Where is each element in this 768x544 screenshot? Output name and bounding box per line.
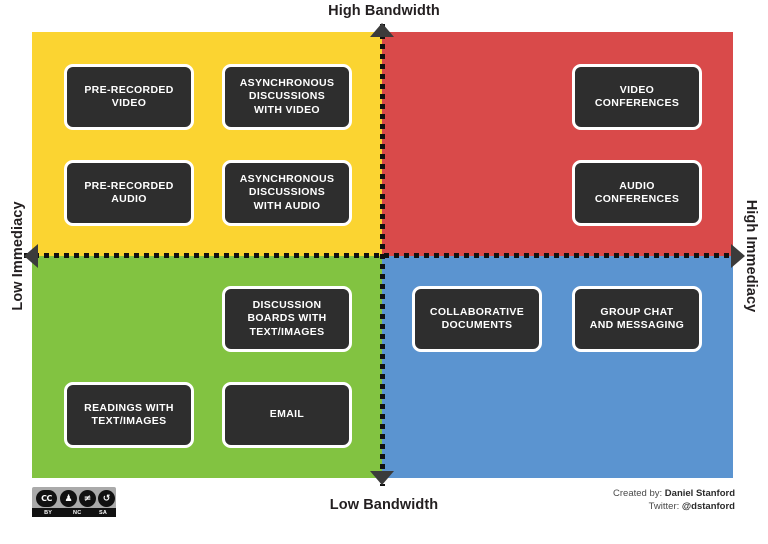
bandwidth-immediacy-matrix: PRE-RECORDED VIDEO ASYNCHRONOUS DISCUSSI… xyxy=(32,32,733,478)
cc-badge-terms: BY NC SA xyxy=(32,508,116,517)
card-discussion-boards-with-text-images[interactable]: DISCUSSION BOARDS WITH TEXT/IMAGES xyxy=(222,286,352,352)
card-line: DOCUMENTS xyxy=(430,319,524,333)
axis-label-right: High Immediacy xyxy=(743,196,759,316)
card-line: ASYNCHRONOUS xyxy=(240,173,335,187)
card-video-conferences[interactable]: VIDEO CONFERENCES xyxy=(572,64,702,130)
attribution-twitter-line: Twitter: @dstanford xyxy=(613,500,735,513)
cc-term-by: BY xyxy=(32,510,64,516)
card-line: EMAIL xyxy=(270,408,304,422)
attribution-creator-name: Daniel Stanford xyxy=(665,488,735,499)
attribution-twitter-label: Twitter: xyxy=(649,501,680,512)
card-line: AND MESSAGING xyxy=(590,319,684,333)
axis-label-top: High Bandwidth xyxy=(0,0,768,22)
card-line: TEXT/IMAGES xyxy=(247,326,326,340)
divider-horizontal xyxy=(24,253,741,258)
card-line: WITH VIDEO xyxy=(240,104,335,118)
cc-term-nc: NC xyxy=(64,510,90,516)
card-line: AUDIO xyxy=(84,193,173,207)
card-pre-recorded-audio[interactable]: PRE-RECORDED AUDIO xyxy=(64,160,194,226)
sa-icon: ↺ xyxy=(98,490,115,507)
card-line: DISCUSSIONS xyxy=(240,90,335,104)
card-line: VIDEO xyxy=(595,84,679,98)
card-line: PRE-RECORDED xyxy=(84,180,173,194)
attribution-creator-line: Created by: Daniel Stanford xyxy=(613,487,735,500)
card-line: READINGS WITH xyxy=(84,402,174,416)
card-line: PRE-RECORDED xyxy=(84,84,173,98)
nc-icon: ≠ xyxy=(79,490,96,507)
arrow-down-icon xyxy=(370,471,394,485)
attribution: Created by: Daniel Stanford Twitter: @ds… xyxy=(613,487,735,513)
card-line: COLLABORATIVE xyxy=(430,306,524,320)
card-line: GROUP CHAT xyxy=(590,306,684,320)
by-icon: ♟ xyxy=(60,490,77,507)
arrow-left-icon xyxy=(24,244,38,268)
card-asynchronous-discussions-with-video[interactable]: ASYNCHRONOUS DISCUSSIONS WITH VIDEO xyxy=(222,64,352,130)
card-audio-conferences[interactable]: AUDIO CONFERENCES xyxy=(572,160,702,226)
cc-term-sa: SA xyxy=(90,510,116,516)
card-line: ASYNCHRONOUS xyxy=(240,77,335,91)
card-line: CONFERENCES xyxy=(595,193,679,207)
card-email[interactable]: EMAIL xyxy=(222,382,352,448)
card-line: DISCUSSIONS xyxy=(240,186,335,200)
arrow-up-icon xyxy=(370,23,394,37)
card-line: TEXT/IMAGES xyxy=(84,415,174,429)
card-line: VIDEO xyxy=(84,97,173,111)
cc-icon: CC xyxy=(36,490,57,507)
card-collaborative-documents[interactable]: COLLABORATIVE DOCUMENTS xyxy=(412,286,542,352)
card-line: BOARDS WITH xyxy=(247,312,326,326)
attribution-twitter-handle[interactable]: @dstanford xyxy=(682,501,735,512)
card-line: DISCUSSION xyxy=(247,299,326,313)
card-line: AUDIO xyxy=(595,180,679,194)
card-asynchronous-discussions-with-audio[interactable]: ASYNCHRONOUS DISCUSSIONS WITH AUDIO xyxy=(222,160,352,226)
arrow-right-icon xyxy=(731,244,745,268)
card-line: WITH AUDIO xyxy=(240,200,335,214)
card-line: CONFERENCES xyxy=(595,97,679,111)
creative-commons-badge[interactable]: CC ♟ ≠ ↺ BY NC SA xyxy=(32,487,116,517)
card-group-chat-and-messaging[interactable]: GROUP CHAT AND MESSAGING xyxy=(572,286,702,352)
card-pre-recorded-video[interactable]: PRE-RECORDED VIDEO xyxy=(64,64,194,130)
attribution-creator-label: Created by: xyxy=(613,488,662,499)
card-readings-with-text-images[interactable]: READINGS WITH TEXT/IMAGES xyxy=(64,382,194,448)
